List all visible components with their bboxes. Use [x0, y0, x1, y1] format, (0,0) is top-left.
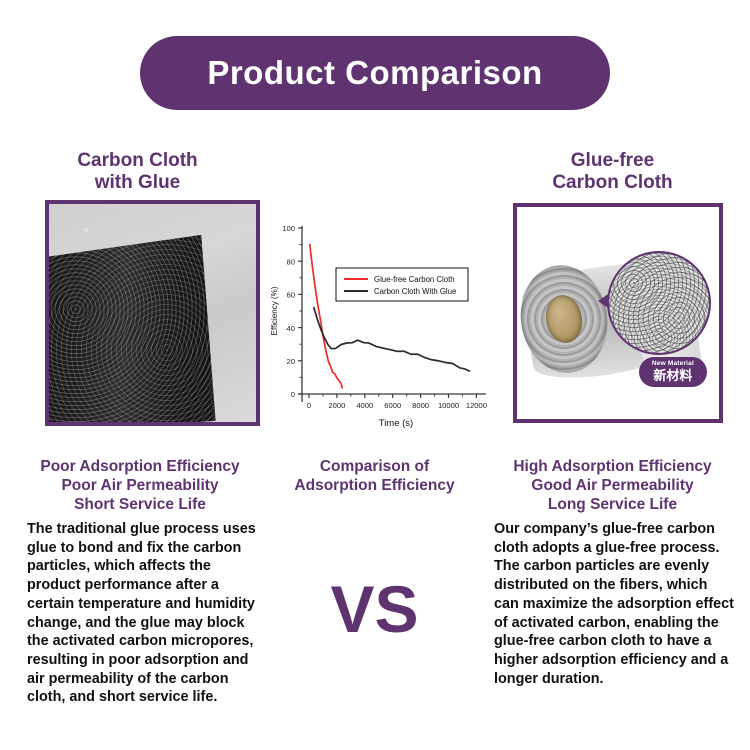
header-pill: Product Comparison	[140, 36, 610, 110]
left-column-heading-line2: with Glue	[20, 172, 255, 194]
left-product-image	[45, 200, 260, 426]
x-tick-label: 12000	[466, 401, 487, 410]
vs-label: VS	[272, 576, 477, 642]
right-column-heading-line2: Carbon Cloth	[490, 172, 735, 194]
left-subcaption-line2: Poor Air Permeability	[20, 477, 260, 496]
right-column-heading-line1: Glue-free	[490, 150, 735, 172]
x-tick-label: 2000	[328, 401, 345, 410]
center-subcaption: Comparison of Adsorption Efficiency	[272, 458, 477, 496]
adsorption-efficiency-chart: 020406080100020004000600080001000012000T…	[266, 212, 491, 444]
y-tick-label: 40	[287, 324, 295, 333]
y-tick-label: 0	[291, 390, 295, 399]
carbon-cloth-with-glue-photo	[49, 204, 256, 422]
page-title: Product Comparison	[207, 54, 542, 92]
glue-free-carbon-cloth-roll-photo: New Material 新材料	[517, 207, 719, 419]
center-subcaption-line1: Comparison of	[272, 458, 477, 477]
header: Product Comparison	[0, 36, 750, 110]
right-product-image: New Material 新材料	[513, 203, 723, 423]
left-column-heading: Carbon Cloth with Glue	[20, 150, 255, 195]
fiber-closeup-circle	[607, 251, 711, 355]
product-comparison-poster: Product Comparison Carbon Cloth with Glu…	[0, 0, 750, 750]
new-material-badge-cn: 新材料	[652, 369, 694, 383]
y-tick-label: 20	[287, 357, 295, 366]
x-tick-label: 10000	[438, 401, 459, 410]
left-subcaption-line3: Short Service Life	[20, 496, 260, 515]
x-tick-label: 0	[307, 401, 311, 410]
y-tick-label: 100	[282, 224, 295, 233]
right-subcaption: High Adsorption Efficiency Good Air Perm…	[490, 458, 735, 515]
new-material-badge-en: New Material	[652, 361, 694, 368]
legend-box	[336, 268, 468, 301]
chart-svg: 020406080100020004000600080001000012000T…	[266, 212, 491, 444]
x-axis-label: Time (s)	[379, 418, 413, 429]
right-subcaption-line1: High Adsorption Efficiency	[490, 458, 735, 477]
y-tick-label: 80	[287, 257, 295, 266]
right-subcaption-line2: Good Air Permeability	[490, 477, 735, 496]
new-material-badge: New Material 新材料	[639, 357, 707, 387]
center-subcaption-line2: Adsorption Efficiency	[272, 477, 477, 496]
left-column-heading-line1: Carbon Cloth	[20, 150, 255, 172]
y-axis-label: Efficiency (%)	[270, 286, 279, 335]
left-subcaption: Poor Adsorption Efficiency Poor Air Perm…	[20, 458, 260, 515]
series-line-2	[314, 308, 470, 371]
right-body-text: Our company’s glue-free carbon cloth ado…	[494, 520, 734, 688]
legend-label: Carbon Cloth With Glue	[374, 287, 456, 296]
left-body-text: The traditional glue process uses glue t…	[27, 520, 263, 707]
legend-label: Glue-free Carbon Cloth	[374, 275, 455, 284]
left-subcaption-line1: Poor Adsorption Efficiency	[20, 458, 260, 477]
series-line-1	[310, 245, 342, 388]
x-tick-label: 8000	[412, 401, 429, 410]
x-tick-label: 6000	[384, 401, 401, 410]
right-column-heading: Glue-free Carbon Cloth	[490, 150, 735, 195]
y-tick-label: 60	[287, 291, 295, 300]
right-subcaption-line3: Long Service Life	[490, 496, 735, 515]
x-tick-label: 4000	[356, 401, 373, 410]
